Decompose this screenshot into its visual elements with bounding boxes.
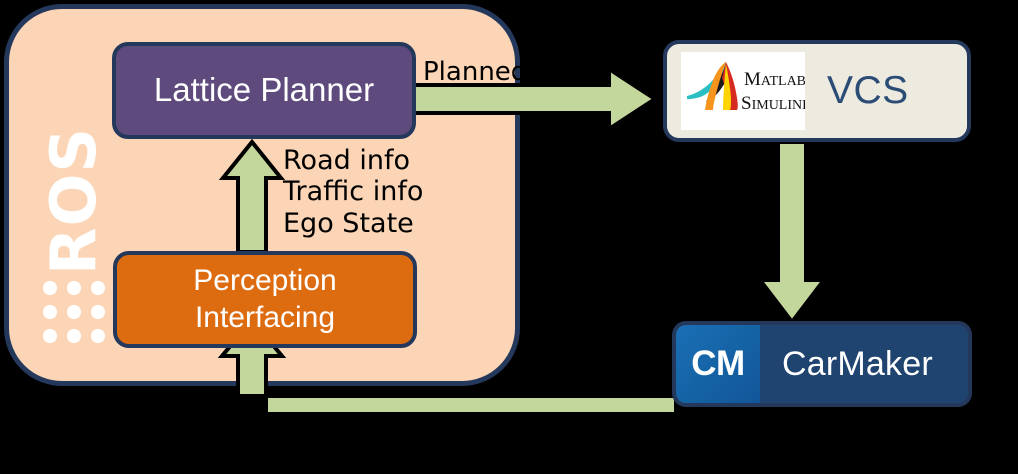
ros-dot bbox=[43, 329, 57, 343]
matlab-simulink-logo: MATLAB SIMULINK bbox=[681, 52, 805, 130]
ros-logo: ROS bbox=[35, 101, 111, 391]
ros-dot bbox=[43, 281, 57, 295]
matlab-wordmark: MATLAB bbox=[744, 69, 805, 90]
node-lattice-planner[interactable]: Lattice Planner bbox=[112, 42, 416, 139]
node-carmaker[interactable]: CM CarMaker bbox=[672, 321, 972, 407]
node-vcs-label: VCS bbox=[827, 69, 909, 113]
ros-dot bbox=[43, 305, 57, 319]
flow-label-planned: Planned bbox=[423, 57, 527, 87]
flow-label-ego-state: Ego State bbox=[283, 208, 423, 239]
node-perception-label-line1: Perception bbox=[193, 263, 336, 300]
node-lattice-planner-label: Lattice Planner bbox=[154, 72, 374, 108]
arrow-vcs-to-carmaker bbox=[760, 142, 824, 322]
node-perception-label-line2: Interfacing bbox=[195, 300, 335, 337]
ros-dot bbox=[67, 281, 81, 295]
simulink-wordmark: SIMULINK bbox=[741, 93, 805, 114]
flow-label-traffic-info: Traffic info bbox=[283, 176, 423, 207]
flow-label-road-info: Road info bbox=[283, 145, 423, 176]
flow-label-perception-outputs: Road info Traffic info Ego State bbox=[283, 145, 423, 239]
node-perception-interfacing[interactable]: Perception Interfacing bbox=[113, 251, 417, 348]
ros-dot bbox=[91, 329, 105, 343]
ros-dot bbox=[91, 305, 105, 319]
ros-logo-dot-grid bbox=[43, 281, 105, 343]
ros-logo-text: ROS bbox=[36, 92, 112, 310]
ros-dot bbox=[67, 305, 81, 319]
carmaker-cm-badge-text: CM bbox=[691, 344, 744, 384]
diagram-canvas: ROS Lattice Planner bbox=[0, 0, 1018, 474]
node-vcs[interactable]: MATLAB SIMULINK VCS bbox=[663, 40, 971, 142]
ros-dot bbox=[91, 281, 105, 295]
ros-dot bbox=[67, 329, 81, 343]
node-carmaker-label: CarMaker bbox=[782, 345, 933, 384]
carmaker-cm-badge: CM bbox=[676, 325, 760, 403]
